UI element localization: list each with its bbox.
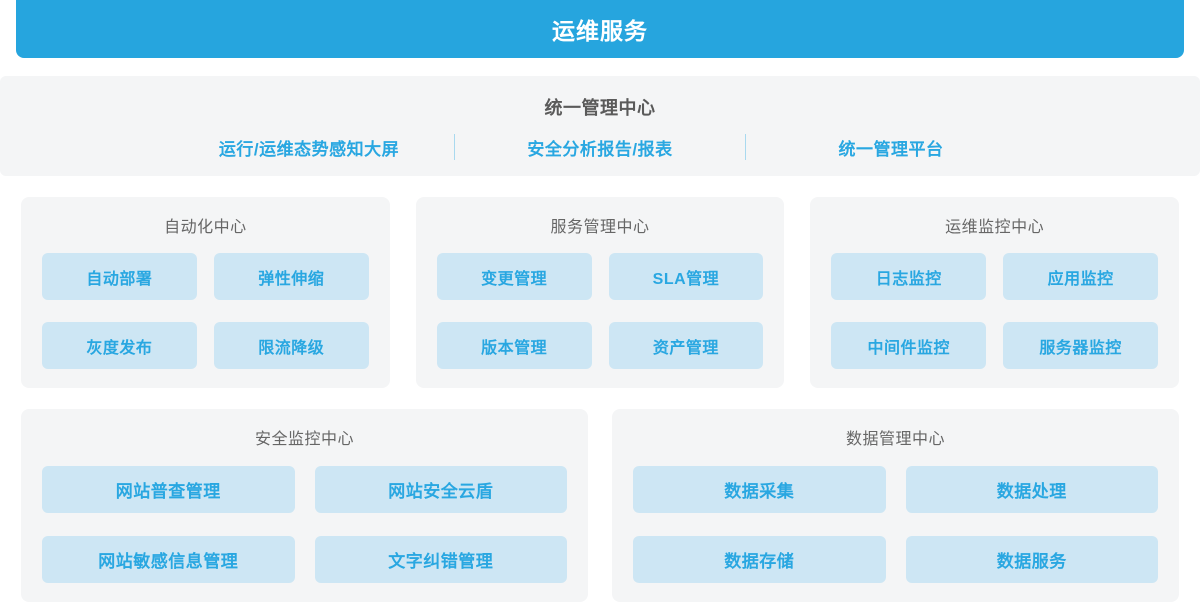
top-card-row: 自动化中心 自动部署 弹性伸缩 灰度发布 限流降级 服务管理中心 变更管理 SL… xyxy=(21,197,1179,388)
card-data-management-center: 数据管理中心 数据采集 数据处理 数据存储 数据服务 xyxy=(612,409,1179,602)
tile-grid: 自动部署 弹性伸缩 灰度发布 限流降级 xyxy=(21,237,390,390)
page-banner: 运维服务 xyxy=(16,0,1184,58)
tile-gray-release[interactable]: 灰度发布 xyxy=(42,322,197,369)
tile-log-monitoring[interactable]: 日志监控 xyxy=(831,253,986,300)
tile-change-management[interactable]: 变更管理 xyxy=(437,253,592,300)
tile-middleware-monitoring[interactable]: 中间件监控 xyxy=(831,322,986,369)
card-automation-center: 自动化中心 自动部署 弹性伸缩 灰度发布 限流降级 xyxy=(21,197,390,388)
card-ops-monitoring-center: 运维监控中心 日志监控 应用监控 中间件监控 服务器监控 xyxy=(810,197,1179,388)
tile-grid: 数据采集 数据处理 数据存储 数据服务 xyxy=(612,449,1179,602)
unified-management-center-links: 运行/运维态势感知大屏 安全分析报告/报表 统一管理平台 xyxy=(0,134,1200,160)
tile-application-monitoring[interactable]: 应用监控 xyxy=(1003,253,1158,300)
tile-grid: 变更管理 SLA管理 版本管理 资产管理 xyxy=(416,237,785,390)
card-title: 数据管理中心 xyxy=(612,409,1179,449)
mgmt-link-security-analysis-report[interactable]: 安全分析报告/报表 xyxy=(455,135,745,160)
tile-asset-management[interactable]: 资产管理 xyxy=(609,322,764,369)
tile-website-security-cloud-shield[interactable]: 网站安全云盾 xyxy=(315,466,568,513)
card-security-monitoring-center: 安全监控中心 网站普查管理 网站安全云盾 网站敏感信息管理 文字纠错管理 xyxy=(21,409,588,602)
tile-rate-limit-degrade[interactable]: 限流降级 xyxy=(214,322,369,369)
tile-text-correction-management[interactable]: 文字纠错管理 xyxy=(315,536,568,583)
tile-version-management[interactable]: 版本管理 xyxy=(437,322,592,369)
tile-data-processing[interactable]: 数据处理 xyxy=(906,466,1159,513)
tile-data-collection[interactable]: 数据采集 xyxy=(633,466,886,513)
mgmt-link-situational-awareness-screen[interactable]: 运行/运维态势感知大屏 xyxy=(164,135,454,160)
tile-sla-management[interactable]: SLA管理 xyxy=(609,253,764,300)
card-title: 运维监控中心 xyxy=(810,197,1179,237)
card-title: 自动化中心 xyxy=(21,197,390,237)
tile-website-sensitive-info-management[interactable]: 网站敏感信息管理 xyxy=(42,536,295,583)
tile-server-monitoring[interactable]: 服务器监控 xyxy=(1003,322,1158,369)
architecture-diagram-page: 运维服务 统一管理中心 运行/运维态势感知大屏 安全分析报告/报表 统一管理平台… xyxy=(0,0,1200,602)
unified-management-center-title: 统一管理中心 xyxy=(0,76,1200,120)
tile-auto-deploy[interactable]: 自动部署 xyxy=(42,253,197,300)
card-service-management-center: 服务管理中心 变更管理 SLA管理 版本管理 资产管理 xyxy=(416,197,785,388)
tile-website-census-management[interactable]: 网站普查管理 xyxy=(42,466,295,513)
bottom-card-row: 安全监控中心 网站普查管理 网站安全云盾 网站敏感信息管理 文字纠错管理 数据管… xyxy=(21,409,1179,602)
tile-data-service[interactable]: 数据服务 xyxy=(906,536,1159,583)
page-title: 运维服务 xyxy=(552,12,648,46)
tile-grid: 日志监控 应用监控 中间件监控 服务器监控 xyxy=(810,237,1179,390)
card-title: 服务管理中心 xyxy=(416,197,785,237)
mgmt-link-unified-management-platform[interactable]: 统一管理平台 xyxy=(746,135,1036,160)
tile-data-storage[interactable]: 数据存储 xyxy=(633,536,886,583)
card-title: 安全监控中心 xyxy=(21,409,588,449)
tile-elastic-scaling[interactable]: 弹性伸缩 xyxy=(214,253,369,300)
unified-management-center-panel: 统一管理中心 运行/运维态势感知大屏 安全分析报告/报表 统一管理平台 xyxy=(0,76,1200,176)
tile-grid: 网站普查管理 网站安全云盾 网站敏感信息管理 文字纠错管理 xyxy=(21,449,588,602)
